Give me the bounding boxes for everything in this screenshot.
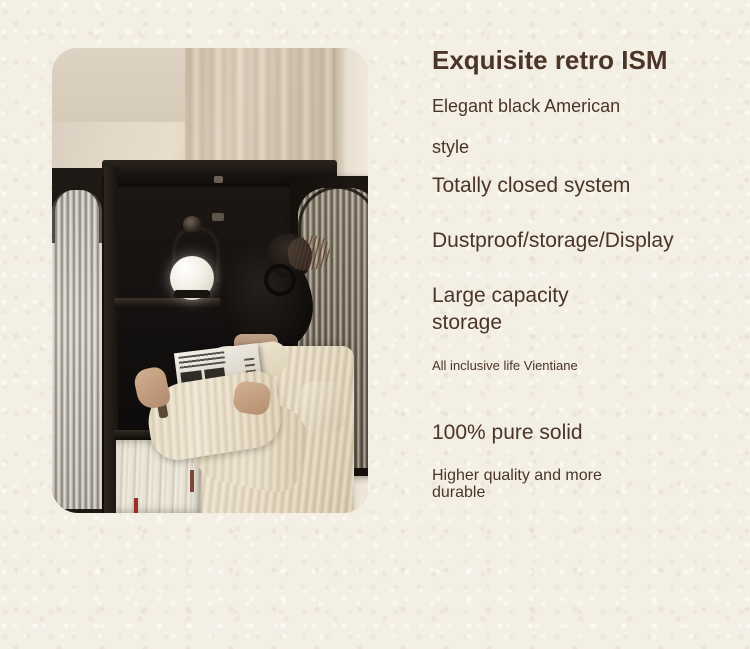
feature-pure-solid: 100% pure solid [432,422,732,443]
caption-all-inclusive-life: All inclusive life Vientiane [432,359,732,372]
wall-highlight [52,48,204,122]
spacer [432,443,732,467]
book-cover-text [178,351,225,369]
magazine-spine-mark [190,470,194,492]
spacer [432,196,732,230]
cabinet-latch [212,213,224,221]
person-right-hand [232,380,272,417]
left-door-arch-trim [52,186,102,243]
product-banner: Exquisite retro ISM Elegant black Americ… [0,0,750,649]
product-photo-scene [52,48,368,513]
spacer [432,115,732,138]
spacer [432,333,732,359]
feature-totally-closed-system: Totally closed system [432,175,732,196]
person-shoulder-seam [300,382,344,432]
feature-higher-quality-line1: Higher quality and more [432,467,732,484]
spacer [432,251,732,285]
feature-large-capacity-line1: Large capacity [432,285,732,306]
feature-large-capacity-line2: storage [432,312,732,333]
feature-elegant-style-line2: style [432,138,732,156]
feature-higher-quality-text: Higher quality and more [432,467,602,484]
feature-elegant-style-line1: Elegant black American [432,97,732,115]
cabinet-hinge [214,176,223,183]
feature-higher-quality-line2: durable [432,484,732,501]
marketing-copy-column: Exquisite retro ISM Elegant black Americ… [432,46,732,501]
spacer [432,372,732,422]
person-hair-clip [264,264,296,296]
table-lamp-finial [183,216,201,232]
headline-title: Exquisite retro ISM [432,46,732,75]
product-photo [52,48,368,513]
table-lamp-base [174,290,210,298]
magazine-spine-mark [134,498,138,513]
feature-dustproof-storage-display: Dustproof/storage/Display [432,230,732,251]
spacer [432,156,732,175]
